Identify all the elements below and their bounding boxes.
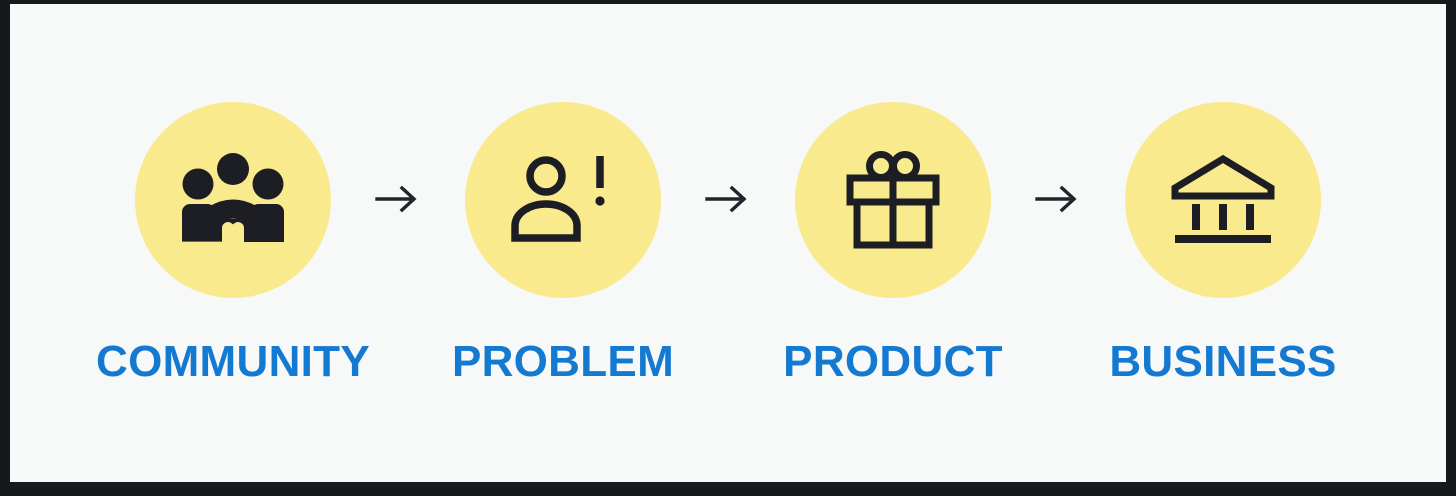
flow-step-label-community: COMMUNITY: [96, 340, 370, 384]
arrow-community-to-problem: [366, 184, 430, 214]
bank-building-icon: [1171, 154, 1275, 246]
gift-box-icon: [845, 151, 941, 249]
arrow-product-to-business: [1026, 184, 1090, 214]
person-exclamation-icon: [511, 154, 615, 246]
arrow-right-icon: [1035, 184, 1081, 214]
arrow-problem-to-product: [696, 184, 760, 214]
flow-step-label-problem: PROBLEM: [452, 340, 674, 384]
screenshot-root: COMMUNITY PROBLE: [0, 0, 1456, 496]
flow-step-label-business: BUSINESS: [1109, 340, 1336, 384]
community-group-icon: [178, 152, 288, 248]
icon-badge-product: [795, 102, 991, 298]
flow-step-business[interactable]: BUSINESS: [1090, 102, 1356, 384]
icon-badge-problem: [465, 102, 661, 298]
flow-step-problem[interactable]: PROBLEM: [430, 102, 696, 384]
arrow-right-icon: [705, 184, 751, 214]
flow-diagram: COMMUNITY PROBLE: [10, 4, 1446, 482]
arrow-right-icon: [375, 184, 421, 214]
icon-badge-community: [135, 102, 331, 298]
flow-step-product[interactable]: PRODUCT: [760, 102, 1026, 384]
icon-badge-business: [1125, 102, 1321, 298]
flow-step-community[interactable]: COMMUNITY: [100, 102, 366, 384]
diagram-canvas: COMMUNITY PROBLE: [10, 4, 1446, 482]
flow-step-label-product: PRODUCT: [783, 340, 1003, 384]
